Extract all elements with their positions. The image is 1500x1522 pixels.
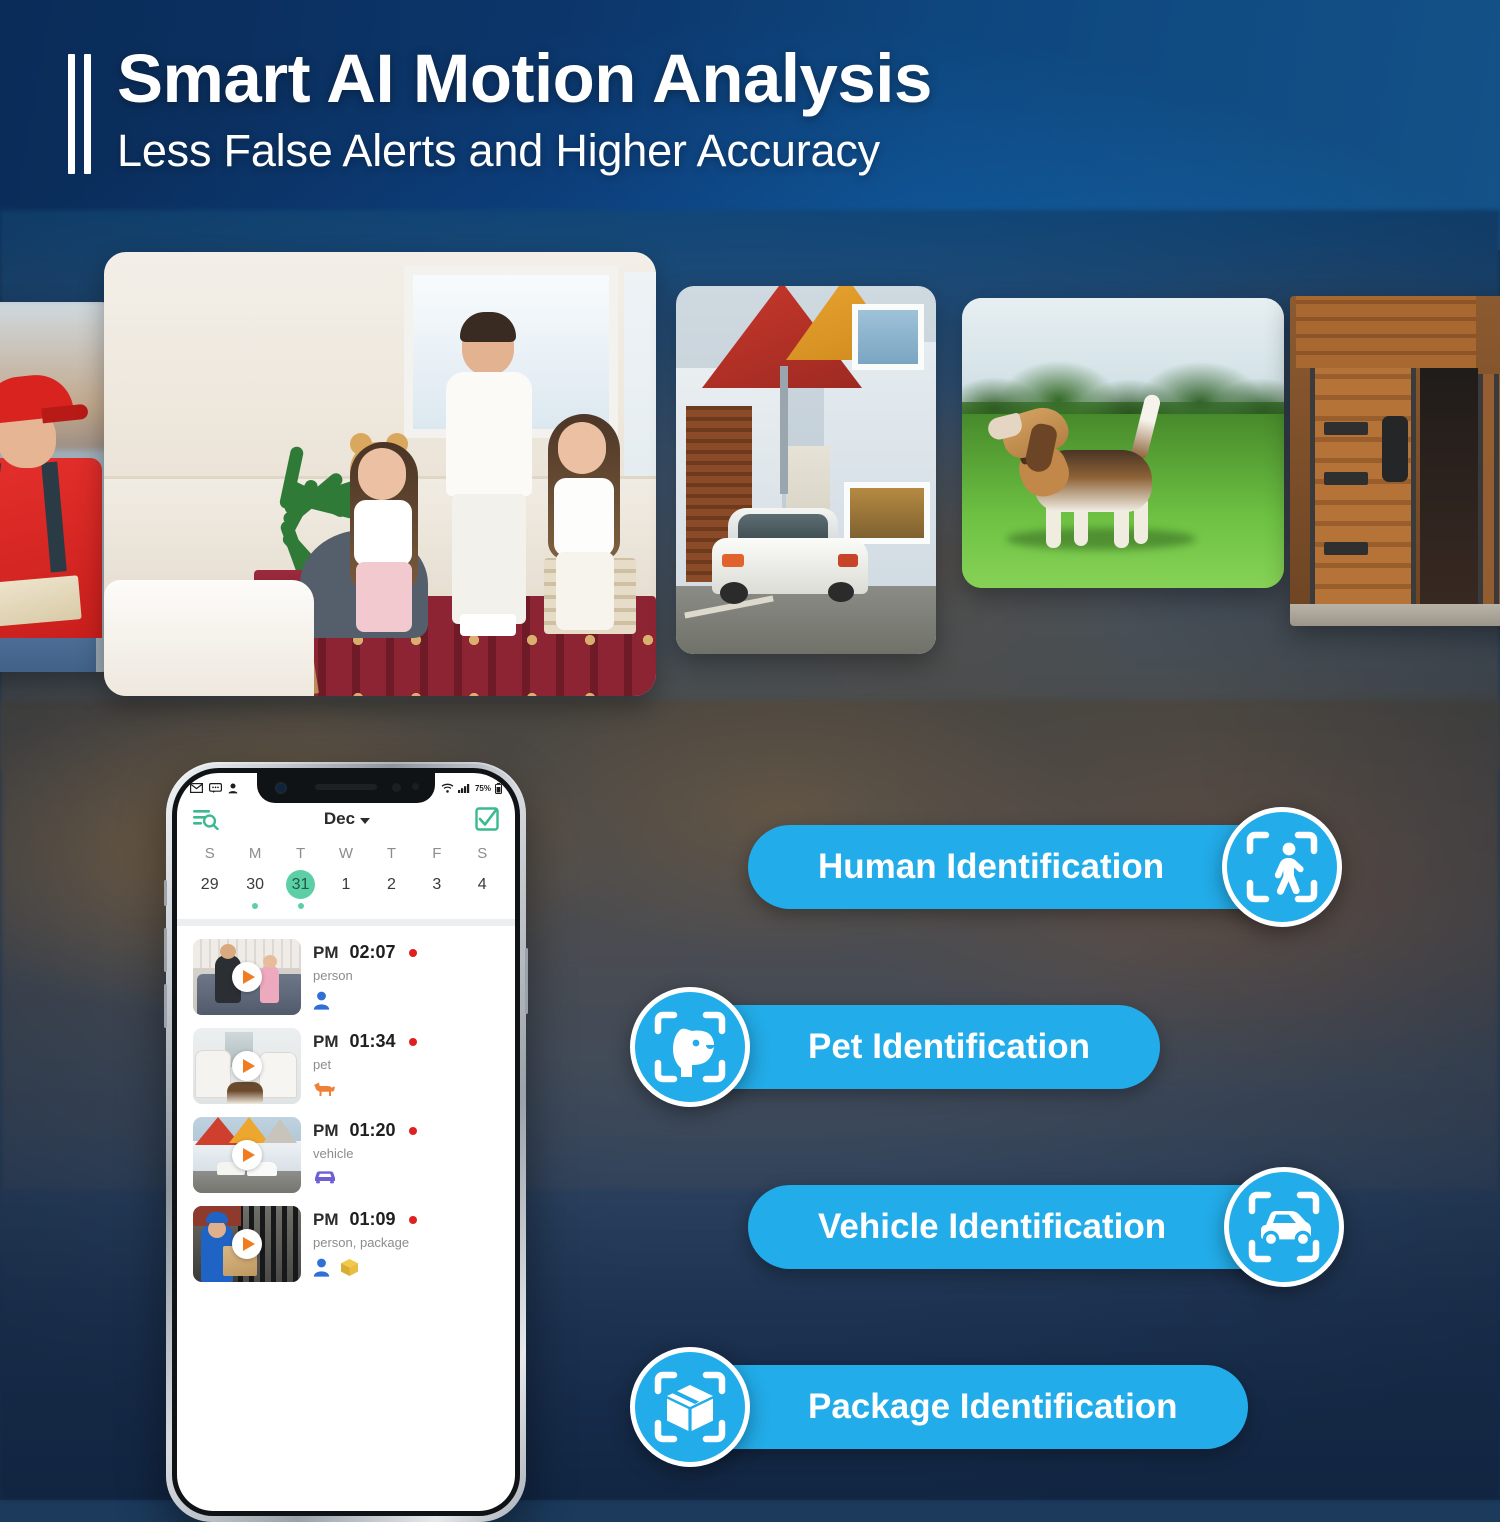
heading-accent-bars — [68, 44, 91, 174]
filter-search-icon[interactable] — [193, 808, 219, 830]
feature-badge-package[interactable]: Package Identification — [630, 1347, 1248, 1467]
dog-on-grass-photo — [962, 298, 1284, 588]
event-dot — [388, 903, 394, 909]
unread-dot — [409, 1127, 417, 1135]
package-detection-icon — [630, 1347, 750, 1467]
month-selector[interactable]: Dec — [324, 809, 370, 829]
phone-mockup: 75% Dec S M T W — [166, 762, 526, 1522]
day-label: T — [278, 845, 323, 862]
day-label: T — [369, 845, 414, 862]
contact-icon — [228, 783, 238, 794]
event-dot — [479, 903, 485, 909]
event-dot — [298, 903, 304, 909]
feature-badge-human[interactable]: Human Identification — [748, 807, 1342, 927]
play-button[interactable] — [232, 1140, 262, 1170]
event-tag: person, package — [313, 1235, 503, 1250]
family-living-room-photo — [104, 252, 656, 696]
photo-strip — [0, 248, 1500, 698]
phone-screen: 75% Dec S M T W — [177, 773, 515, 1511]
unread-dot — [409, 1216, 417, 1224]
pet-detection-icon — [630, 987, 750, 1107]
phone-power-button[interactable] — [525, 948, 528, 1014]
front-door-photo — [1290, 296, 1500, 626]
message-icon — [209, 783, 222, 793]
calendar-date-cell[interactable]: 30 — [232, 870, 277, 909]
dog-icon — [313, 1080, 335, 1097]
day-label: S — [460, 845, 505, 862]
event-time: 01:34 — [350, 1031, 396, 1052]
event-meridiem: PM — [313, 943, 339, 963]
event-dot — [434, 903, 440, 909]
list-item[interactable]: PM 01:34 pet — [177, 1015, 515, 1104]
car-icon — [313, 1169, 337, 1184]
delivery-person-photo — [0, 302, 108, 672]
play-button[interactable] — [232, 1051, 262, 1081]
chevron-down-icon — [360, 818, 370, 824]
event-time: 02:07 — [350, 942, 396, 963]
date-number: 29 — [195, 870, 224, 899]
date-number: 4 — [468, 870, 497, 899]
event-thumbnail[interactable] — [193, 939, 301, 1015]
page-heading: Smart AI Motion Analysis Less False Aler… — [68, 44, 932, 174]
date-number: 31 — [286, 870, 315, 899]
event-meridiem: PM — [313, 1121, 339, 1141]
page-title: Smart AI Motion Analysis — [117, 44, 932, 113]
signal-bars-icon — [458, 783, 471, 793]
event-meridiem: PM — [313, 1210, 339, 1230]
play-button[interactable] — [232, 962, 262, 992]
earpiece-speaker — [315, 784, 377, 790]
event-dot — [252, 903, 258, 909]
play-button[interactable] — [232, 1229, 262, 1259]
calendar-date-cell[interactable]: 2 — [369, 870, 414, 909]
phone-notch — [257, 773, 435, 803]
day-label: F — [414, 845, 459, 862]
calendar-header: Dec — [177, 807, 515, 831]
day-label: M — [232, 845, 277, 862]
sensor-icon — [392, 783, 401, 792]
phone-mute-switch[interactable] — [164, 880, 167, 906]
package-icon — [340, 1258, 359, 1277]
parked-car-photo — [676, 286, 936, 654]
section-divider — [177, 919, 515, 926]
event-tag: pet — [313, 1057, 503, 1072]
person-icon — [313, 1258, 330, 1277]
list-item[interactable]: PM 01:09 person, package — [177, 1193, 515, 1282]
list-item[interactable]: PM 02:07 person — [177, 926, 515, 1015]
feature-badge-pet[interactable]: Pet Identification — [630, 987, 1160, 1107]
battery-icon — [495, 783, 502, 794]
wifi-icon — [441, 783, 454, 793]
event-tag: vehicle — [313, 1146, 503, 1161]
date-number: 30 — [241, 870, 270, 899]
day-label: S — [187, 845, 232, 862]
calendar-date-cell[interactable]: 3 — [414, 870, 459, 909]
list-item[interactable]: PM 01:20 vehicle — [177, 1104, 515, 1193]
phone-volume-down-button[interactable] — [164, 984, 167, 1028]
human-detection-icon — [1222, 807, 1342, 927]
feature-badge-vehicle[interactable]: Vehicle Identification — [748, 1167, 1344, 1287]
checkbox-check-icon[interactable] — [475, 807, 499, 831]
phone-volume-up-button[interactable] — [164, 928, 167, 972]
event-dot — [207, 903, 213, 909]
event-thumbnail[interactable] — [193, 1117, 301, 1193]
calendar-date-cell[interactable]: 29 — [187, 870, 232, 909]
calendar-date-cell[interactable]: 1 — [323, 870, 368, 909]
event-dot — [343, 903, 349, 909]
date-number: 2 — [377, 870, 406, 899]
month-label: Dec — [324, 809, 355, 829]
front-camera-icon — [275, 782, 287, 794]
email-icon — [190, 783, 203, 793]
unread-dot — [409, 1038, 417, 1046]
date-number: 3 — [422, 870, 451, 899]
date-number: 1 — [331, 870, 360, 899]
calendar-date-cell-selected[interactable]: 31 — [278, 870, 323, 909]
event-tag: person — [313, 968, 503, 983]
event-thumbnail[interactable] — [193, 1206, 301, 1282]
battery-percent-label: 75% — [475, 784, 491, 793]
calendar-dates: 29 30 31 1 2 3 4 — [177, 870, 515, 909]
event-thumbnail[interactable] — [193, 1028, 301, 1104]
person-icon — [313, 991, 330, 1010]
calendar-date-cell[interactable]: 4 — [460, 870, 505, 909]
day-label: W — [323, 845, 368, 862]
event-list: PM 02:07 person PM — [177, 926, 515, 1282]
page-subtitle: Less False Alerts and Higher Accuracy — [117, 127, 932, 174]
event-meridiem: PM — [313, 1032, 339, 1052]
calendar-day-labels: S M T W T F S — [177, 845, 515, 862]
event-time: 01:20 — [350, 1120, 396, 1141]
sensor-icon — [412, 783, 419, 790]
unread-dot — [409, 949, 417, 957]
event-time: 01:09 — [350, 1209, 396, 1230]
vehicle-detection-icon — [1224, 1167, 1344, 1287]
